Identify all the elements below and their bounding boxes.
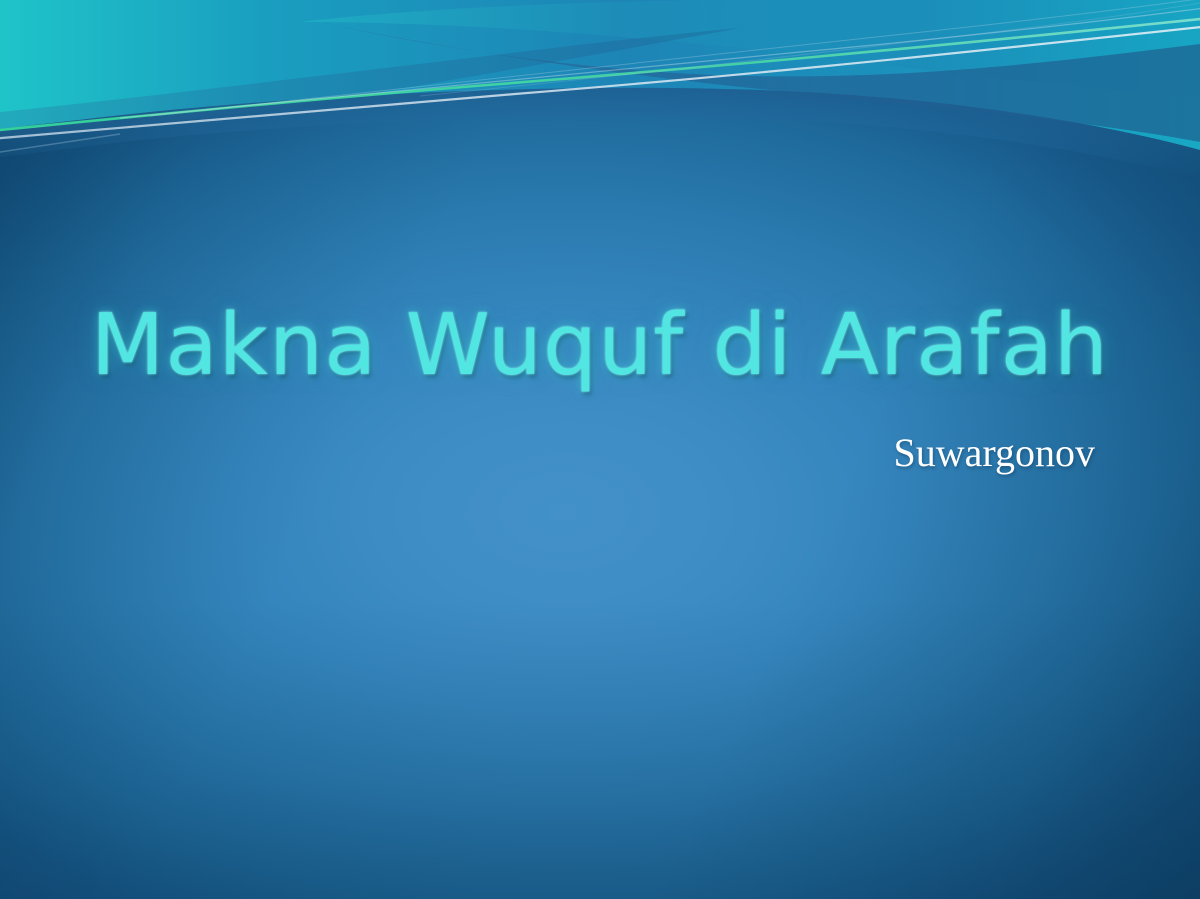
subtitle-placeholder: Suwargonov xyxy=(0,431,1200,476)
wave-decoration-svg xyxy=(0,0,1200,260)
slide-title: Makna Wuquf di Arafah xyxy=(0,300,1200,392)
presentation-slide: Makna Wuquf di Arafah Suwargonov xyxy=(0,0,1200,899)
wave-decoration xyxy=(0,0,1200,260)
title-placeholder: Makna Wuquf di Arafah xyxy=(0,300,1200,392)
slide-subtitle: Suwargonov xyxy=(894,431,1095,476)
slide-background-bottom-shade xyxy=(0,599,1200,899)
